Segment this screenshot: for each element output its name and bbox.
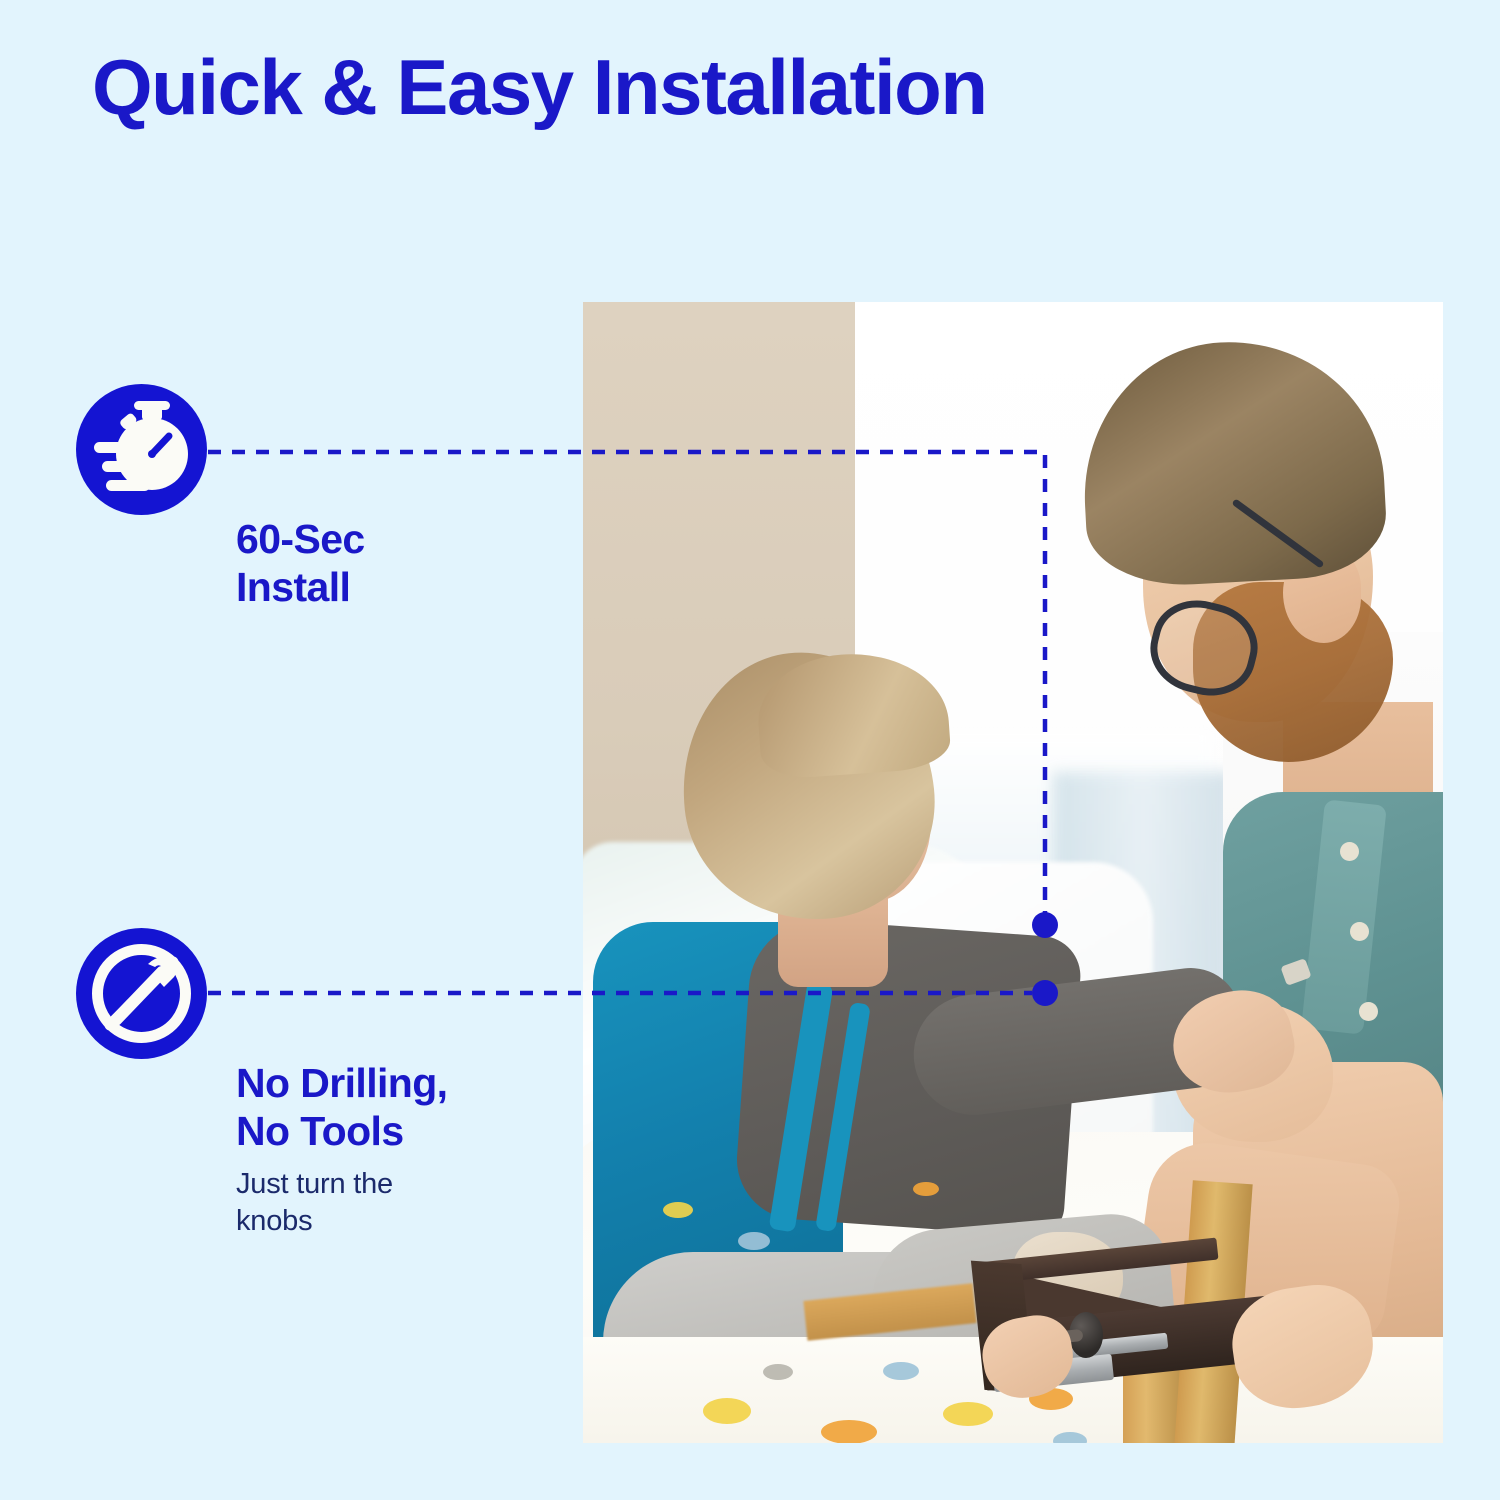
photo-man-button	[1340, 842, 1359, 861]
feature-no-tools: No Drilling, No Tools Just turn the knob…	[76, 928, 546, 1241]
photo-bedding-dot	[738, 1232, 770, 1250]
photo-bedding-dot	[943, 1402, 993, 1426]
photo-bedding-dot	[913, 1182, 939, 1196]
product-photo	[583, 302, 1443, 1443]
feature-install-title: 60-Sec Install	[236, 515, 546, 612]
stopwatch-speed-icon	[76, 384, 207, 515]
photo-bedding-dot	[663, 1202, 693, 1218]
photo-man-button	[1359, 1002, 1378, 1021]
feature-install: 60-Sec Install	[76, 384, 546, 612]
photo-man-button	[1350, 922, 1369, 941]
page-title: Quick & Easy Installation	[92, 47, 1392, 129]
no-tools-hammer-icon	[76, 928, 207, 1059]
photo-bedding-dot	[763, 1364, 793, 1380]
photo-bedding-dot	[1053, 1432, 1087, 1443]
feature-no-tools-title: No Drilling, No Tools	[236, 1059, 546, 1156]
feature-no-tools-subtitle: Just turn the knobs	[236, 1166, 546, 1241]
photo-bedding-dot	[703, 1398, 751, 1424]
photo-bedding-dot	[821, 1420, 877, 1443]
infographic-page: Quick & Easy Installation	[0, 0, 1500, 1500]
photo-bedding-dot	[883, 1362, 919, 1380]
